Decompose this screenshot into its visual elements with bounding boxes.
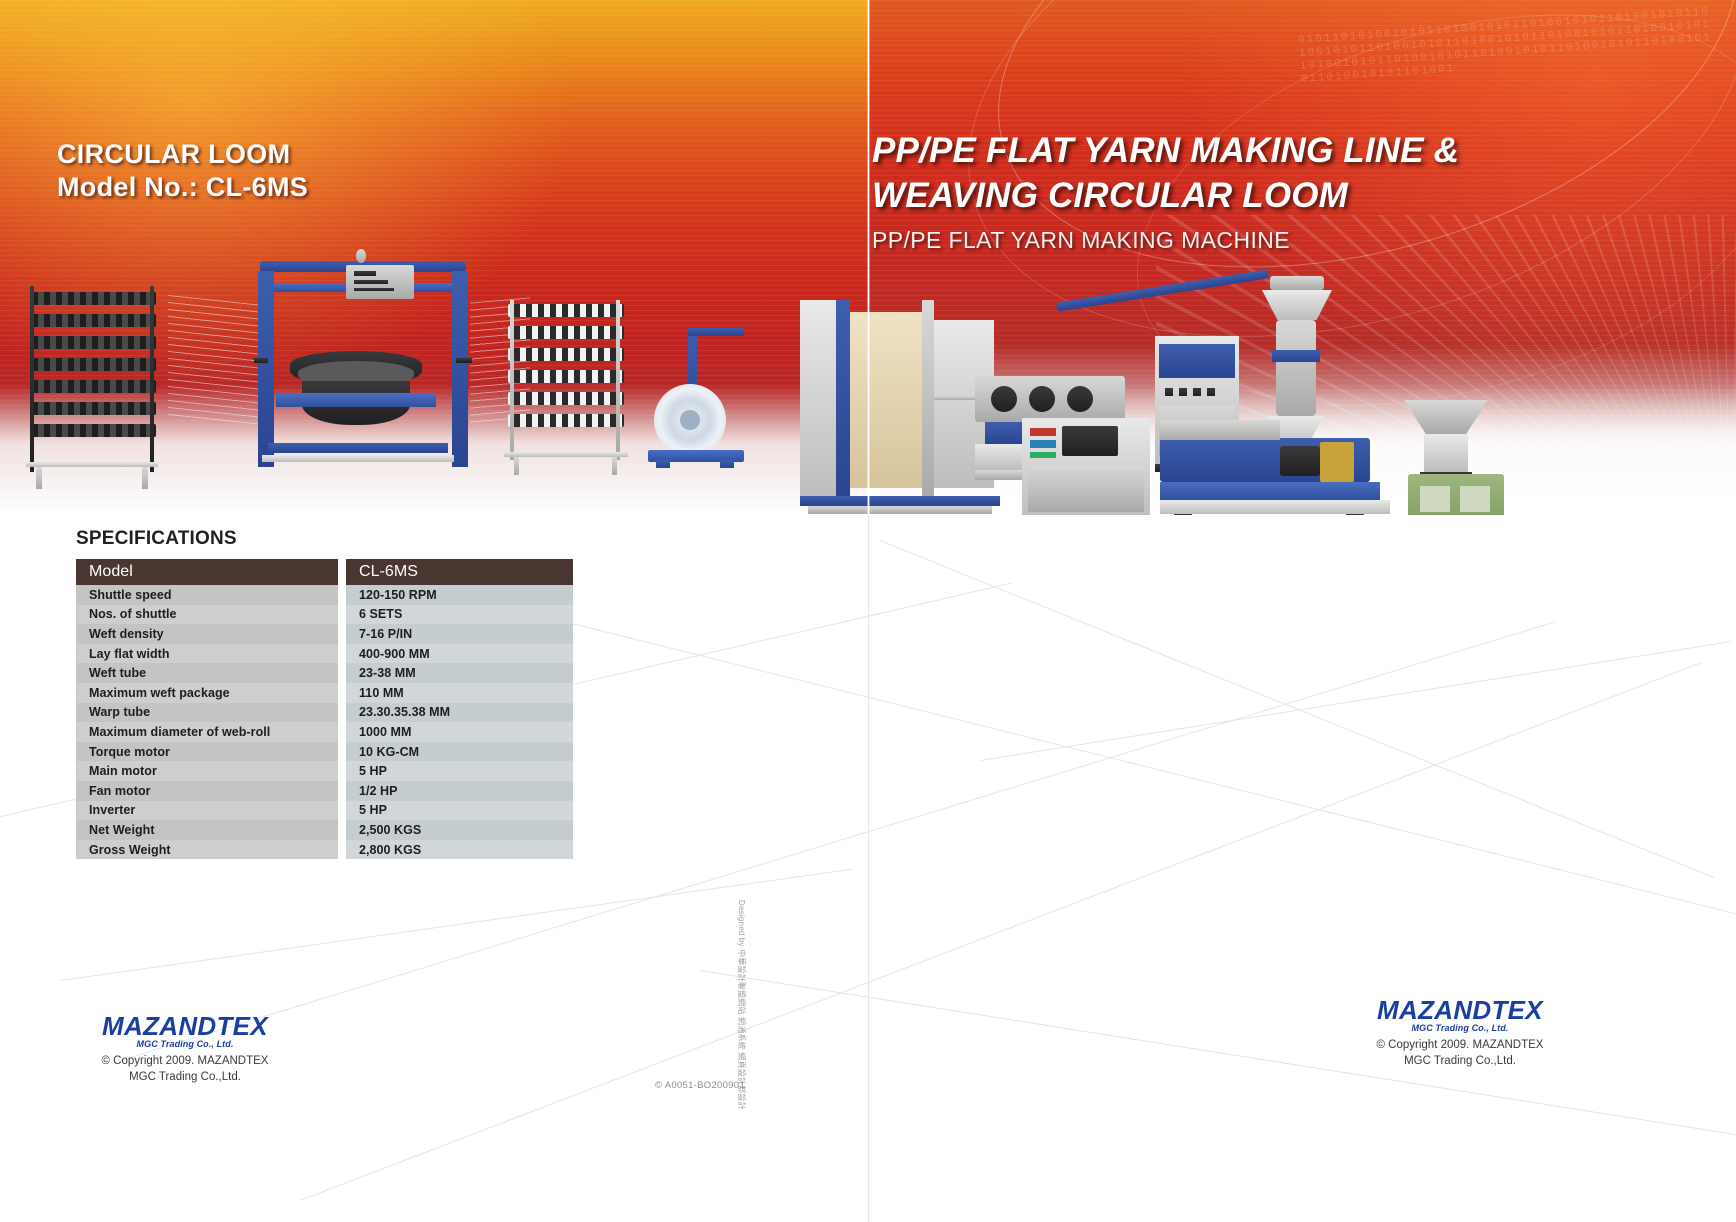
table-row: Torque motor 10 KG-CM [76,742,573,762]
row-parameter: Torque motor [76,742,338,762]
illustration-extruder [1160,420,1390,515]
designer-credit: Designed by 中華設計聯盟網站 網通系統 網頁設計部設計 [736,900,747,1110]
illustration-web-roll-winder [648,328,766,468]
table-row: Maximum diameter of web-roll 1000 MM [76,722,573,742]
row-value: 10 KG-CM [346,742,573,762]
row-value: 23.30.35.38 MM [346,703,573,723]
table-row: Maximum weft package 110 MM [76,683,573,703]
brochure-spread: 0101101010010101101001010110100101011010… [0,0,1736,1222]
copyright-right-line1: © Copyright 2009. MAZANDTEX [1335,1037,1585,1053]
header-parameter: Model [76,559,338,585]
table-row: Lay flat width 400-900 MM [76,644,573,664]
brand-subtitle-right: MGC Trading Co., Ltd. [1335,1023,1585,1033]
row-value: 5 HP [346,801,573,821]
illustration-circular-loom [246,243,482,475]
specifications-table-body: Shuttle speed 120-150 RPM Nos. of shuttl… [76,585,573,859]
headline-line1: PP/PE FLAT YARN MAKING LINE & [872,128,1572,173]
right-page-title: PP/PE FLAT YARN MAKING LINE & WEAVING CI… [872,128,1572,254]
row-value: 400-900 MM [346,644,573,664]
row-value: 2,500 KGS [346,820,573,840]
row-value: 2,800 KGS [346,840,573,860]
illustration-left-creel [22,286,172,476]
headline-line2: WEAVING CIRCULAR LOOM [872,173,1572,218]
copyright-left-line1: © Copyright 2009. MAZANDTEX [60,1053,310,1069]
specifications-title: SPECIFICATIONS [76,528,576,550]
page-fold-line [868,515,869,1222]
brand-subtitle-left: MGC Trading Co., Ltd. [60,1039,310,1049]
copyright-left-line2: MGC Trading Co.,Ltd. [60,1069,310,1085]
brand-name-right: MAZANDTEX [1335,996,1585,1024]
copyright-right-line2: MGC Trading Co.,Ltd. [1335,1053,1585,1069]
table-row: Net Weight 2,500 KGS [76,820,573,840]
row-parameter: Fan motor [76,781,338,801]
illustration-control-console [1022,418,1150,515]
row-value: 6 SETS [346,605,573,625]
specifications-table: Model CL-6MS Shuttle speed 120-150 RPM N… [76,559,573,859]
table-row: Fan motor 1/2 HP [76,781,573,801]
row-value: 23-38 MM [346,663,573,683]
footer-right-branding: MAZANDTEX MGC Trading Co., Ltd. © Copyri… [1335,996,1585,1069]
left-title-line1: CIRCULAR LOOM [57,138,308,171]
document-code: © A0051-BO200901 [655,1080,745,1091]
table-row: Shuttle speed 120-150 RPM [76,585,573,605]
row-parameter: Net Weight [76,820,338,840]
left-title-line2: Model No.: CL-6MS [57,171,308,204]
row-parameter: Nos. of shuttle [76,605,338,625]
table-row: Weft tube 23-38 MM [76,663,573,683]
row-parameter: Main motor [76,761,338,781]
row-parameter: Weft tube [76,663,338,683]
row-parameter: Shuttle speed [76,585,338,605]
footer-left-branding: MAZANDTEX MGC Trading Co., Ltd. © Copyri… [60,1012,310,1085]
row-value: 1/2 HP [346,781,573,801]
row-parameter: Maximum diameter of web-roll [76,722,338,742]
header-value: CL-6MS [346,559,573,585]
table-row: Main motor 5 HP [76,761,573,781]
illustration-chiller-unit [1408,474,1504,515]
row-parameter: Gross Weight [76,840,338,860]
row-value: 7-16 P/IN [346,624,573,644]
row-value: 110 MM [346,683,573,703]
table-row: Gross Weight 2,800 KGS [76,840,573,860]
row-parameter: Inverter [76,801,338,821]
brand-name-left: MAZANDTEX [60,1012,310,1040]
row-parameter: Weft density [76,624,338,644]
header-gap [338,559,346,585]
row-value: 5 HP [346,761,573,781]
headline-subtitle: PP/PE FLAT YARN MAKING MACHINE [872,227,1572,254]
row-parameter: Maximum weft package [76,683,338,703]
table-row: Nos. of shuttle 6 SETS [76,605,573,625]
left-page-title: CIRCULAR LOOM Model No.: CL-6MS [57,138,308,204]
illustration-right-creel [508,300,628,470]
row-parameter: Lay flat width [76,644,338,664]
table-row: Warp tube 23.30.35.38 MM [76,703,573,723]
table-row: Weft density 7-16 P/IN [76,624,573,644]
row-value: 1000 MM [346,722,573,742]
table-header-row: Model CL-6MS [76,559,573,585]
specifications-section: SPECIFICATIONS Model CL-6MS Shuttle spee… [76,528,576,859]
table-row: Inverter 5 HP [76,801,573,821]
row-parameter: Warp tube [76,703,338,723]
row-value: 120-150 RPM [346,585,573,605]
